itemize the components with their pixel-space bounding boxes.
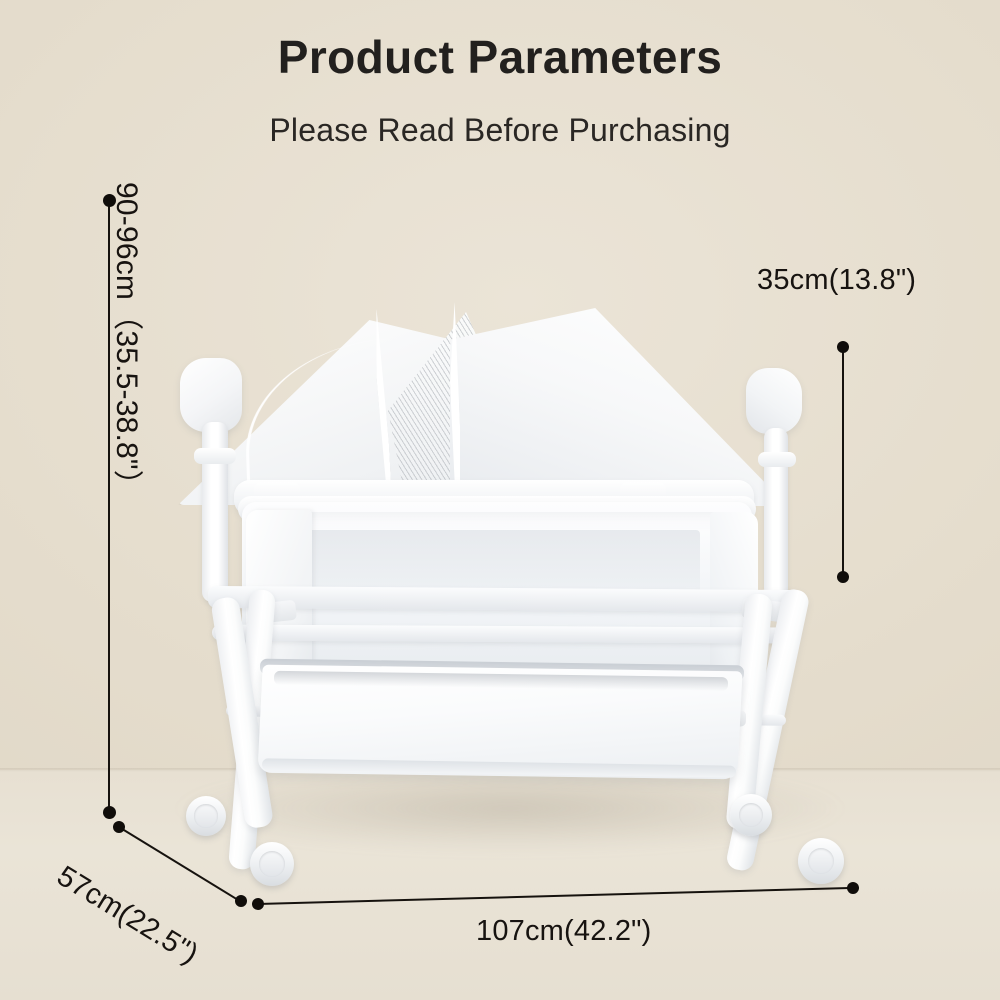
- width-dimension-endpoint-left: [252, 898, 264, 910]
- caster-wheel-back-right: [798, 838, 844, 884]
- side-height-dimension-label: 35cm(13.8"): [757, 264, 916, 297]
- width-dimension-label: 107cm(42.2"): [476, 915, 652, 948]
- caster-wheel-front-right: [730, 794, 772, 836]
- height-dimension-label: 90-96cm（35.5-38.8"）: [108, 182, 152, 500]
- height-adjust-knob-left: [180, 358, 242, 432]
- page-title: Product Parameters: [0, 30, 1000, 84]
- height-dimension-endpoint-bottom: [103, 806, 116, 819]
- caster-wheel-back-left: [250, 842, 294, 886]
- post-collar-right: [758, 452, 796, 467]
- side-height-endpoint-top: [837, 341, 849, 353]
- frame-cross-bar-mid: [212, 624, 792, 643]
- page-subtitle: Please Read Before Purchasing: [0, 112, 1000, 149]
- product-parameters-infographic: Product Parameters Please Read Before Pu…: [0, 0, 1000, 1000]
- width-dimension-endpoint-right: [847, 882, 859, 894]
- depth-dimension-endpoint-far: [235, 895, 247, 907]
- canopy-right-panel: [450, 308, 780, 506]
- post-collar-left: [194, 448, 236, 464]
- side-height-dimension-line: [842, 347, 844, 577]
- caster-wheel-front-left: [186, 796, 226, 836]
- frame-cross-bar-top: [208, 586, 798, 612]
- side-height-endpoint-bottom: [837, 571, 849, 583]
- canopy-seam: [242, 336, 465, 504]
- height-adjust-knob-right: [746, 368, 802, 434]
- depth-dimension-endpoint-near: [113, 821, 125, 833]
